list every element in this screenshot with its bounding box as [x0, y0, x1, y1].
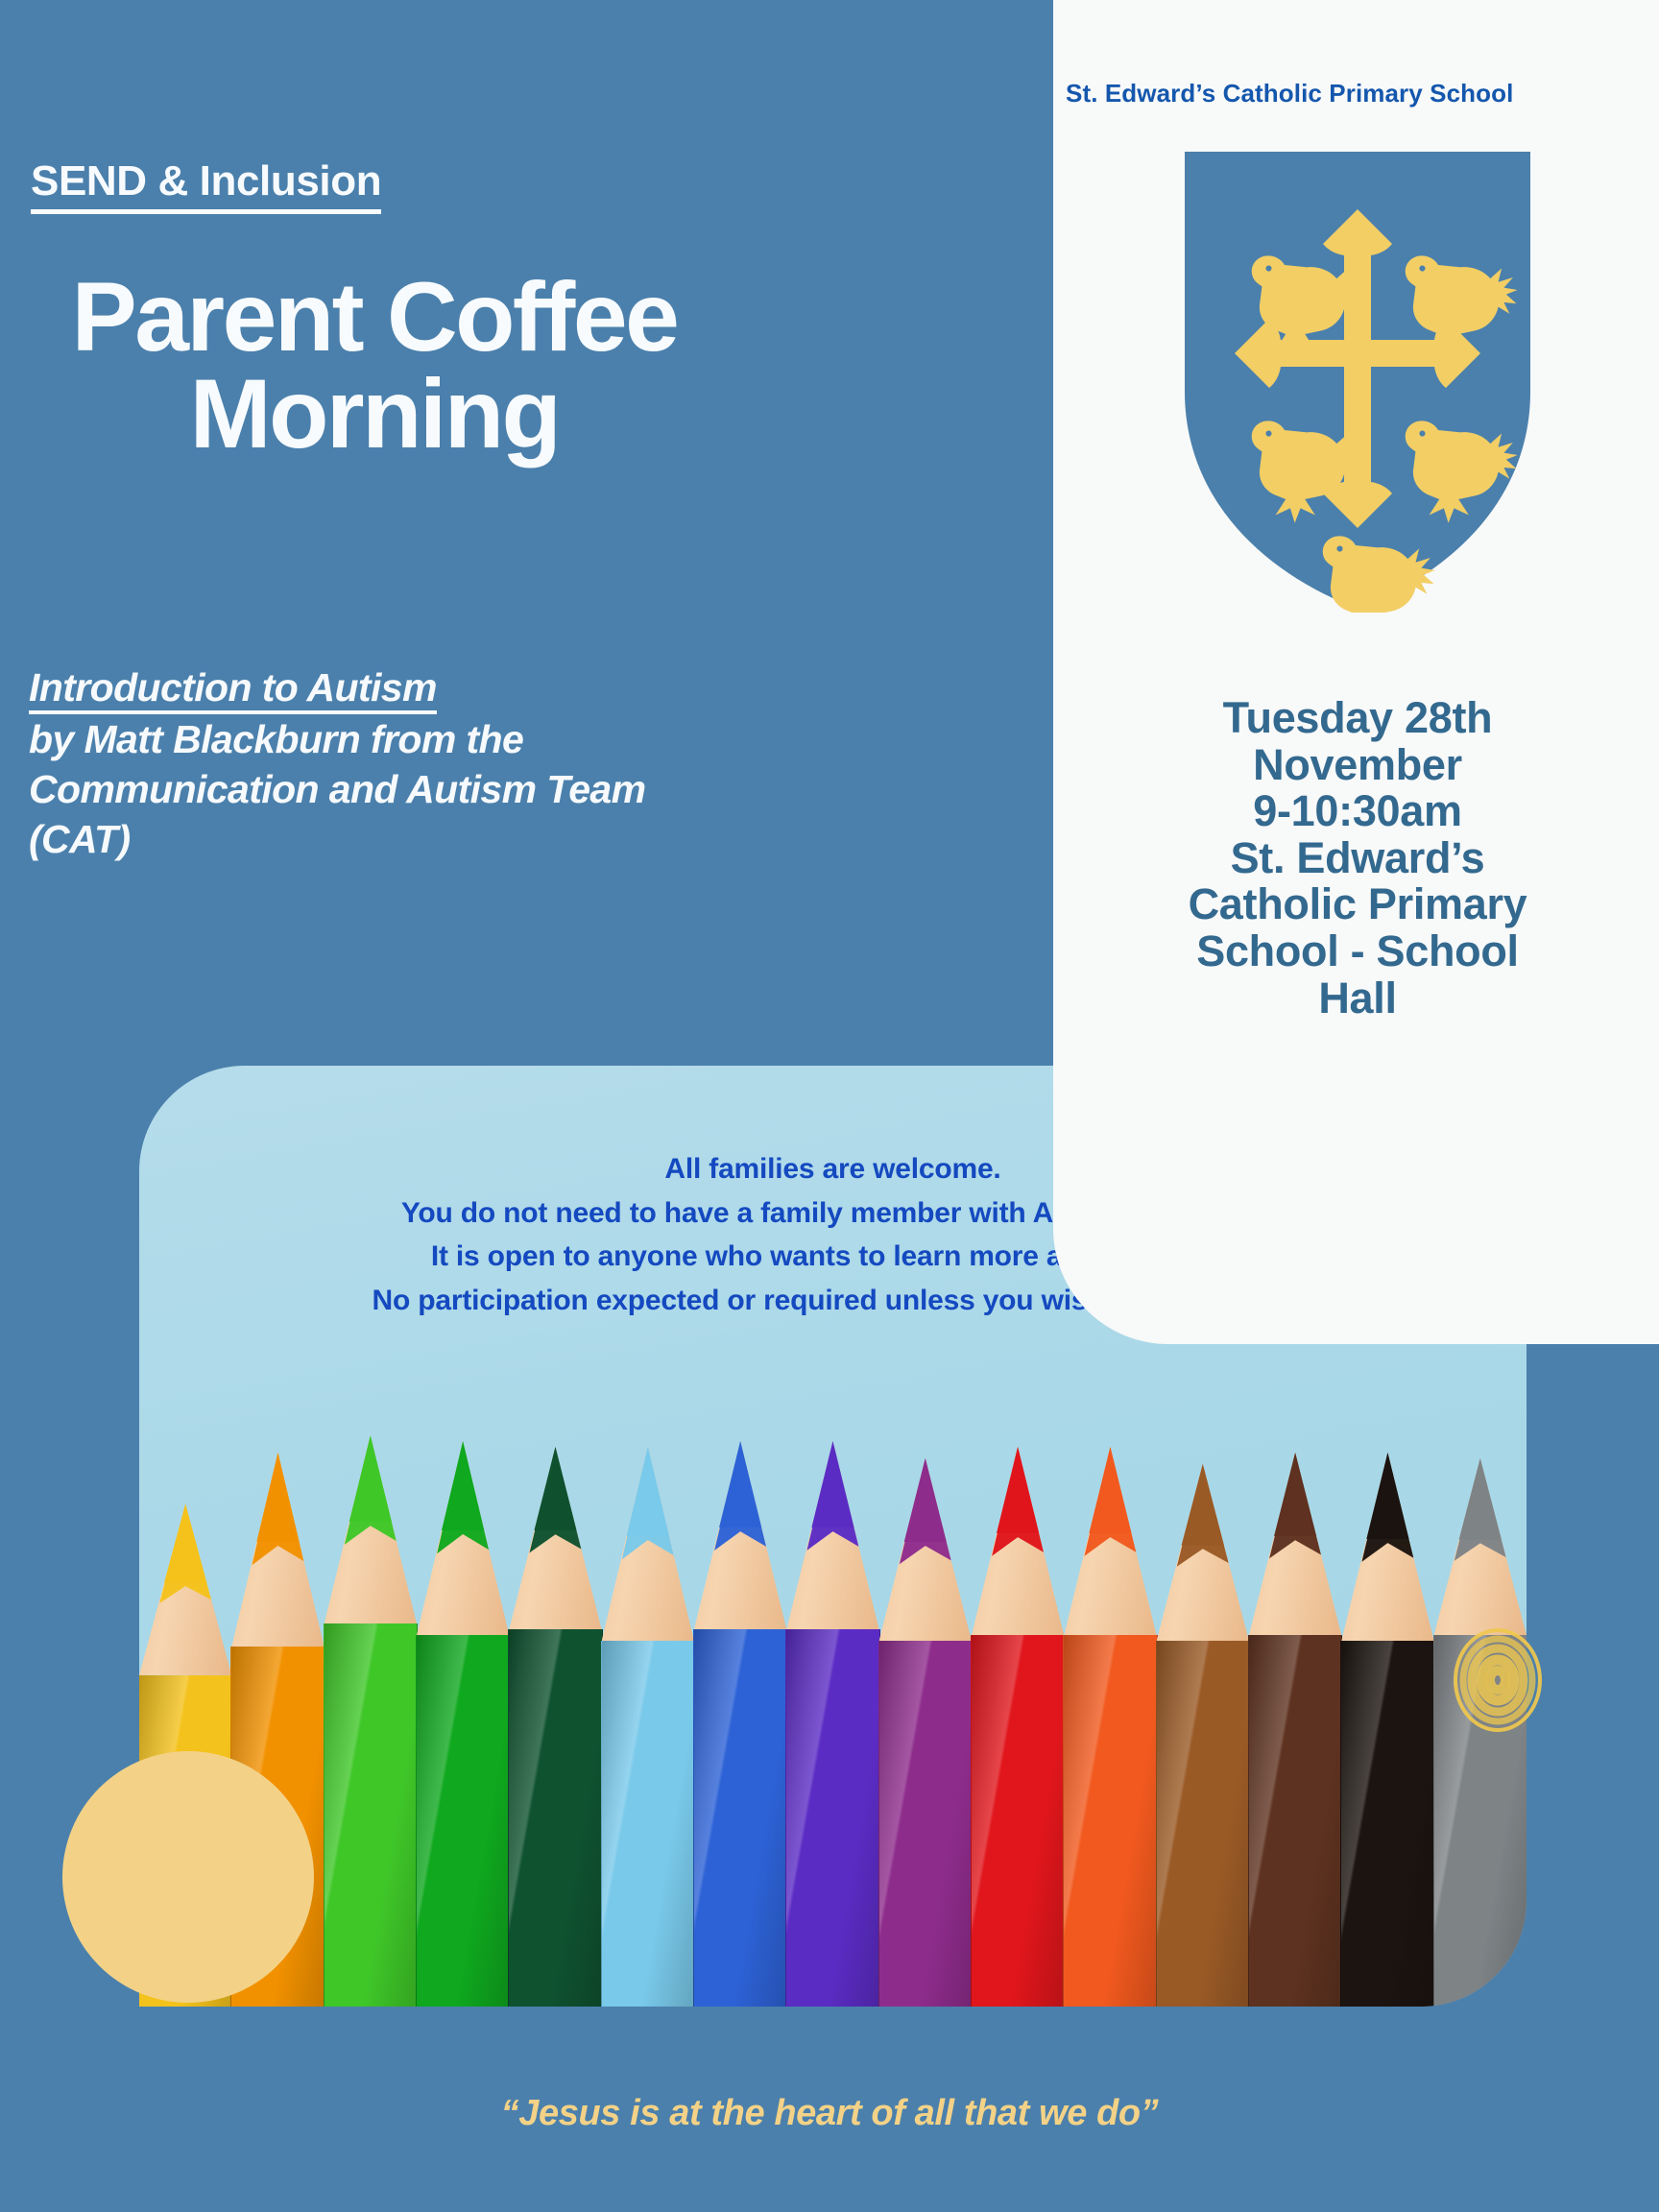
pencil-tip [694, 1441, 786, 1629]
pencil-barrel [1433, 1635, 1527, 2007]
pencil [1064, 1435, 1156, 2007]
pencil [694, 1435, 786, 2007]
event-detail-line: 9-10:30am [1094, 788, 1621, 835]
eyebrow-label: SEND & Inclusion [31, 157, 381, 214]
pencil-tip [417, 1441, 509, 1635]
pencil-top-gap [509, 1435, 601, 1447]
pencil-barrel [324, 1623, 418, 2007]
pencil-tip [786, 1441, 878, 1629]
pencil-tip [231, 1453, 324, 1647]
pencil-top-gap [1064, 1435, 1156, 1447]
pencil-top-gap [231, 1435, 324, 1453]
pencil-tip [879, 1458, 972, 1641]
session-description-line-2: by Matt Blackburn from the [29, 714, 739, 764]
pencil-tip [509, 1447, 601, 1629]
pencil-top-gap [1341, 1435, 1433, 1453]
event-detail-line: Tuesday 28th [1094, 695, 1621, 742]
pencil-barrel [878, 1641, 973, 2007]
pencil-top-gap [1157, 1435, 1249, 1464]
pencil-lead [1341, 1453, 1433, 1539]
pencil [879, 1435, 972, 2007]
pencil [1157, 1435, 1249, 2007]
pencil [509, 1435, 601, 2007]
pencil-barrel [508, 1629, 602, 2007]
poster-canvas: St. Edward’s Catholic Primary School [0, 0, 1659, 2212]
event-detail-line: School - School [1094, 928, 1621, 975]
pencil-barrel [601, 1641, 695, 2007]
pencil-barrel [1340, 1641, 1434, 2007]
pencil-tip [602, 1447, 694, 1641]
session-description: Introduction to Autism by Matt Blackburn… [29, 662, 739, 864]
pencil-lead [1064, 1447, 1156, 1533]
pencil-lead [1434, 1458, 1527, 1540]
pencil-top-gap [1249, 1435, 1341, 1453]
session-description-line-3: Communication and Autism Team [29, 764, 739, 814]
pencil-barrel [1156, 1641, 1250, 2007]
pencil-top-gap [972, 1435, 1064, 1447]
pencil-lead [509, 1447, 601, 1531]
pencil [325, 1435, 417, 2007]
pencil-lead [231, 1453, 324, 1542]
pencil-lead [786, 1441, 878, 1527]
pencil-tip [139, 1503, 231, 1675]
session-description-line-4: (CAT) [29, 814, 739, 864]
pencil-tip [1341, 1453, 1433, 1641]
pencil-lead [879, 1458, 972, 1543]
pencil-tip [1157, 1464, 1249, 1641]
pencil [602, 1435, 694, 2007]
pencil-lead [139, 1503, 231, 1582]
pencil-barrel [416, 1635, 510, 2007]
pencil-top-gap [417, 1435, 509, 1441]
page-title-line-1: Parent Coffee [38, 269, 710, 366]
pencil-barrel [693, 1629, 787, 2007]
school-crest-shield-icon [1166, 152, 1550, 613]
pencil-top-gap [1434, 1435, 1527, 1458]
pencil-top-gap [694, 1435, 786, 1441]
pencil [786, 1435, 878, 2007]
event-details-block: Tuesday 28th November 9-10:30am St. Edwa… [1094, 695, 1621, 1022]
pencil-tip [325, 1435, 417, 1623]
pencil-lead [972, 1447, 1064, 1533]
event-detail-line: St. Edward’s [1094, 835, 1621, 882]
pencil-lead [1157, 1464, 1249, 1546]
pencil-top-gap [139, 1435, 231, 1503]
pencil [1249, 1435, 1341, 2007]
event-detail-line: Catholic Primary [1094, 881, 1621, 928]
page-title: Parent Coffee Morning [38, 269, 710, 463]
pencil-barrel [785, 1629, 879, 2007]
page-title-line-2: Morning [38, 366, 710, 463]
pencil-top-gap [602, 1435, 694, 1447]
coloured-pencils-photo [139, 1435, 1527, 2007]
event-detail-line: November [1094, 742, 1621, 789]
pencil [972, 1435, 1064, 2007]
pencil-lead [1249, 1453, 1341, 1537]
pencil-tip [1434, 1458, 1527, 1635]
pencil-barrel [1248, 1635, 1342, 2007]
pencil-barrel [971, 1635, 1065, 2007]
pencil-lead [417, 1441, 509, 1530]
pencil-lead [602, 1447, 694, 1536]
pencil-tip [1064, 1447, 1156, 1635]
pencil-top-gap [786, 1435, 878, 1441]
pencil [1341, 1435, 1433, 2007]
pencil-barrel [1063, 1635, 1157, 2007]
pencil-lead [694, 1441, 786, 1527]
session-topic: Introduction to Autism [29, 666, 437, 714]
pencil-tip [972, 1447, 1064, 1635]
pencil [1434, 1435, 1527, 2007]
pencil-lead [325, 1435, 417, 1522]
yellow-circle-decoration [62, 1751, 314, 2003]
pencil-top-gap [879, 1435, 972, 1458]
event-detail-line: Hall [1094, 975, 1621, 1022]
school-motto: “Jesus is at the heart of all that we do… [0, 2093, 1659, 2134]
pencil [417, 1435, 509, 2007]
school-name-heading: St. Edward’s Catholic Primary School [1066, 79, 1659, 108]
pencil-tip [1249, 1453, 1341, 1635]
